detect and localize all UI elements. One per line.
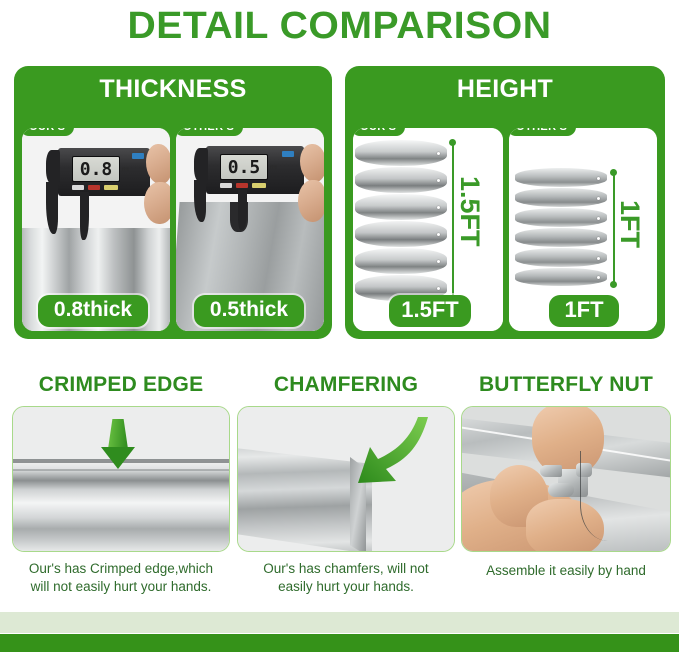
feature-caption-line2-crimped-edge: will not easily hurt your hands. (12, 578, 230, 596)
page-title: DETAIL COMPARISON (0, 2, 679, 50)
feature-crimped-edge: CRIMPED EDGE Our's has Crimped edge,whic… (12, 372, 230, 602)
caliper-unit-others: mm (270, 164, 277, 171)
feature-caption-line1-chamfering: Our's has chamfers, will not (237, 560, 455, 578)
diagonal-arrow-icon (356, 415, 436, 491)
result-pill-ours-height: 1.5FT (389, 295, 471, 327)
caliper-unit-ours: mm (122, 166, 129, 173)
badge-others-thickness: OTHER'S (176, 128, 243, 136)
panel-heading-thickness: THICKNESS (14, 74, 332, 104)
dimension-cap-top-others (610, 169, 617, 176)
feature-image-crimped-edge (12, 406, 230, 552)
bottom-green-bar (0, 634, 679, 652)
result-pill-others-height: 1FT (549, 295, 619, 327)
caliper-reading-ours: 0.8 (72, 156, 120, 182)
badge-others-height: OTHER'S (509, 128, 576, 136)
badge-ours-thickness: OUR'S (22, 128, 74, 136)
comparison-panel-thickness: THICKNESS 0.8 mm (14, 66, 332, 339)
dimension-cap-top-ours (449, 139, 456, 146)
digital-caliper-others: 0.5 mm (178, 140, 324, 240)
feature-title-chamfering: CHAMFERING (237, 372, 455, 398)
coil-others (515, 168, 607, 286)
result-pill-others-thickness: 0.5thick (194, 295, 304, 327)
panel-heading-height: HEIGHT (345, 74, 665, 104)
feature-title-butterfly-nut: BUTTERFLY NUT (461, 372, 671, 398)
result-pill-ours-thickness: 0.8thick (38, 295, 148, 327)
dimension-cap-bottom-others (610, 281, 617, 288)
dimension-label-ours: 1.5FT (454, 176, 485, 247)
feature-caption-line1-butterfly-nut: Assemble it easily by hand (461, 562, 671, 580)
feature-title-crimped-edge: CRIMPED EDGE (12, 372, 230, 398)
feature-butterfly-nut: BUTTERFLY NUT Assemble it easily by hand (461, 372, 671, 602)
feature-chamfering: CHAMFERING Our's has chamfers, will not … (237, 372, 455, 602)
feature-image-chamfering (237, 406, 455, 552)
feature-caption-line2-chamfering: easily hurt your hands. (237, 578, 455, 596)
caliper-reading-others: 0.5 (220, 154, 268, 180)
comparison-panel-height: HEIGHT (345, 66, 665, 339)
bottom-light-strip (0, 612, 679, 633)
badge-ours-height: OUR'S (353, 128, 405, 136)
dimension-label-others: 1FT (614, 200, 645, 248)
digital-caliper-ours: 0.8 mm (28, 142, 170, 252)
feature-image-butterfly-nut (461, 406, 671, 552)
coil-ours (355, 140, 447, 308)
detail-comparison-infographic: DETAIL COMPARISON THICKNESS 0.8 mm (0, 0, 679, 652)
feature-caption-line1-crimped-edge: Our's has Crimped edge,which (12, 560, 230, 578)
